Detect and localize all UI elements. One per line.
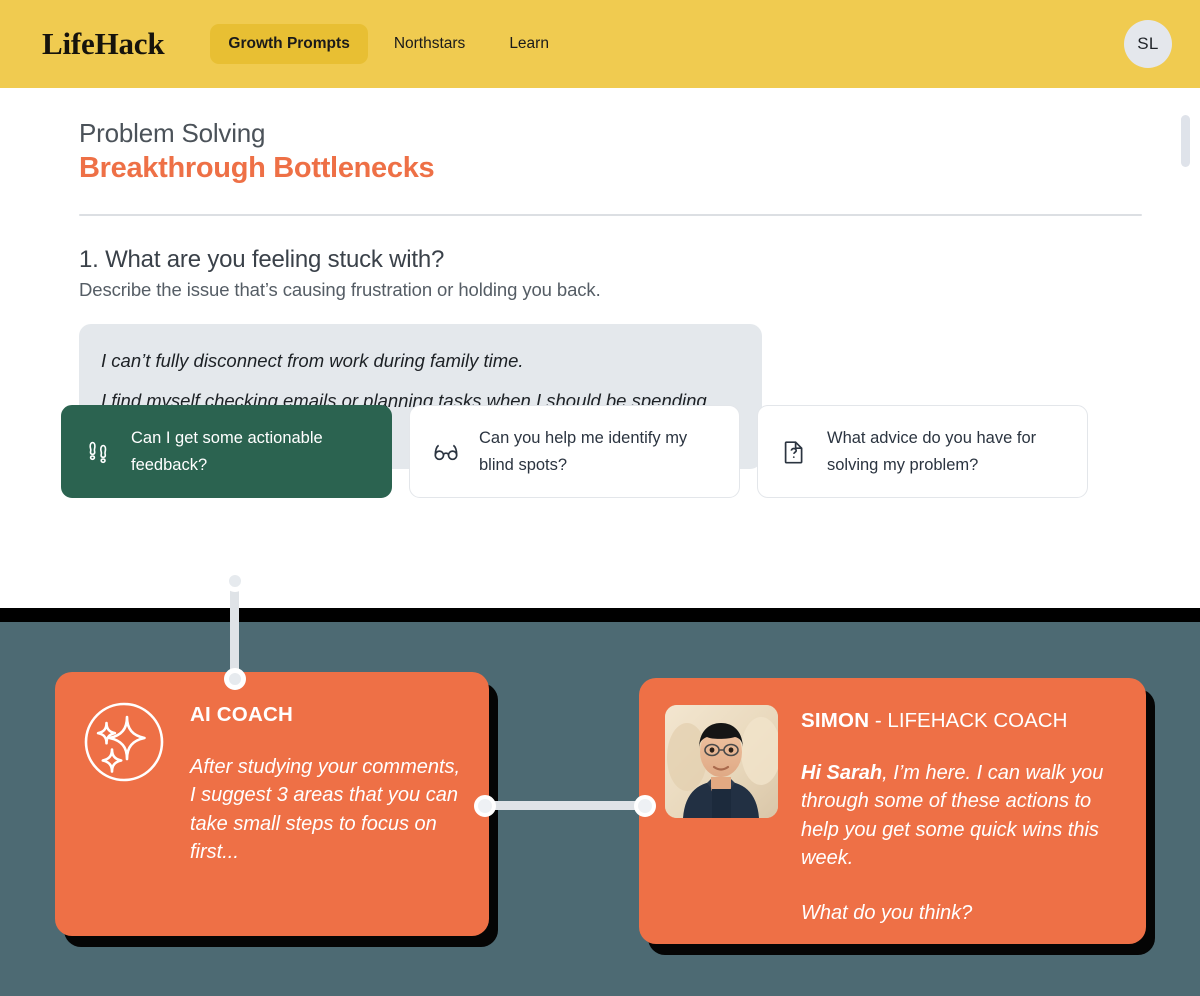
- ai-coach-body: AI COACH After studying your comments, I…: [190, 699, 467, 910]
- ai-coach-card[interactable]: AI COACH After studying your comments, I…: [55, 672, 489, 936]
- ai-coach-name: AI COACH: [190, 703, 467, 727]
- app-root: LifeHack Growth Prompts Northstars Learn…: [0, 0, 1200, 996]
- section-separator-band: [0, 608, 1200, 622]
- human-coach-body: SIMON - LIFEHACK COACH Hi Sarah, I’m her…: [801, 705, 1124, 918]
- option-card-blind-spots[interactable]: Can you help me identify my blind spots?: [409, 405, 740, 498]
- human-coach-first-name: SIMON: [801, 709, 869, 732]
- connector-vertical: [227, 570, 242, 690]
- connector-node-bottom: [224, 668, 246, 690]
- human-coach-message: Hi Sarah, I’m here. I can walk you throu…: [801, 759, 1124, 927]
- human-coach-role: - LIFEHACK COACH: [869, 709, 1067, 732]
- connector-bar: [482, 801, 648, 810]
- connector-node-top: [224, 570, 246, 592]
- option-label: Can I get some actionable feedback?: [131, 425, 369, 478]
- sparkles-icon: [81, 699, 167, 785]
- question-title: 1. What are you feeling stuck with?: [79, 246, 1142, 274]
- page-title: Breakthrough Bottlenecks: [79, 152, 1142, 185]
- title-divider: [79, 214, 1142, 216]
- ai-coach-message: After studying your comments, I suggest …: [190, 753, 467, 867]
- answer-paragraph-1: I can’t fully disconnect from work durin…: [101, 350, 737, 371]
- page-eyebrow: Problem Solving: [79, 118, 1142, 149]
- page-scrollbar-thumb[interactable]: [1181, 115, 1190, 167]
- option-card-advice[interactable]: What advice do you have for solving my p…: [757, 405, 1088, 498]
- nav-item-learn[interactable]: Learn: [491, 24, 567, 64]
- option-label: Can you help me identify my blind spots?: [479, 425, 717, 478]
- avatar[interactable]: SL: [1124, 20, 1172, 68]
- question-subtitle: Describe the issue that’s causing frustr…: [79, 279, 1142, 301]
- main-nav: Growth Prompts Northstars Learn: [210, 24, 567, 64]
- human-coach-greeting: Hi Sarah: [801, 762, 882, 784]
- glasses-icon: [431, 437, 461, 467]
- human-coach-message-question: What do you think?: [801, 899, 1124, 927]
- footprints-icon: [83, 437, 113, 467]
- top-navigation-bar: LifeHack Growth Prompts Northstars Learn…: [0, 0, 1200, 88]
- option-card-actionable-feedback[interactable]: Can I get some actionable feedback?: [61, 405, 392, 498]
- document-question-icon: [779, 437, 809, 467]
- option-label: What advice do you have for solving my p…: [827, 425, 1065, 478]
- main-content: Problem Solving Breakthrough Bottlenecks…: [0, 88, 1200, 608]
- connector-node-right: [634, 795, 656, 817]
- connector-node-left: [474, 795, 496, 817]
- human-coach-name: SIMON - LIFEHACK COACH: [801, 709, 1124, 733]
- lifehack-logo[interactable]: LifeHack: [42, 26, 164, 62]
- human-coach-card[interactable]: SIMON - LIFEHACK COACH Hi Sarah, I’m her…: [639, 678, 1146, 944]
- prompt-options: Can I get some actionable feedback? Can …: [61, 405, 1088, 498]
- connector-horizontal: [474, 795, 656, 817]
- nav-item-northstars[interactable]: Northstars: [376, 24, 484, 64]
- nav-item-growth-prompts[interactable]: Growth Prompts: [210, 24, 367, 64]
- simon-avatar-photo: [665, 705, 778, 818]
